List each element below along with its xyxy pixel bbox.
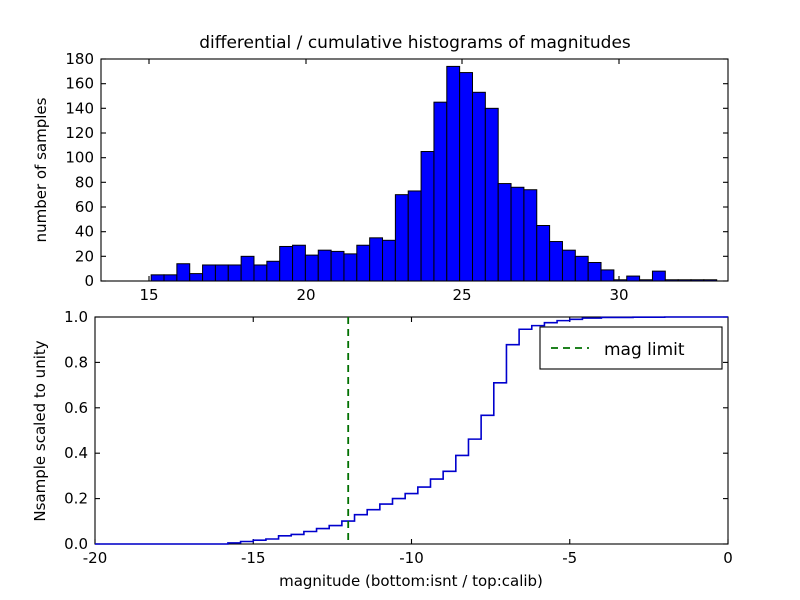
histogram-bar [640, 280, 653, 281]
histogram-bar [434, 102, 447, 281]
histogram-bar [344, 254, 357, 281]
histogram-bar [473, 92, 486, 281]
histogram-bar [627, 276, 640, 281]
histogram-bar [601, 270, 614, 281]
histogram-bar [691, 280, 704, 281]
histogram-bar [331, 251, 344, 281]
histogram-bar [151, 275, 164, 281]
histogram-bar [408, 191, 421, 281]
bottom-ytick-label-0.8: 0.8 [64, 353, 88, 371]
bottom-ytick-label-0.6: 0.6 [64, 399, 88, 417]
matplotlib-figure: differential / cumulative histograms of … [0, 0, 800, 600]
top-ytick-label-100: 100 [65, 149, 94, 167]
legend[interactable]: mag limit [540, 327, 722, 369]
bottom-xtick-label-minus5: -5 [562, 549, 577, 567]
top-ytick-label-120: 120 [65, 124, 94, 142]
legend-label-mag-limit: mag limit [604, 340, 685, 360]
histogram-bar [524, 190, 537, 281]
histogram-bar [254, 265, 267, 281]
histogram-bar [395, 195, 408, 281]
histogram-bar [550, 242, 563, 281]
histogram-bar [318, 250, 331, 281]
histogram-bar [614, 280, 627, 281]
top-ytick-label-180: 180 [65, 50, 94, 68]
histogram-bar [460, 73, 473, 281]
histogram-bar [228, 265, 241, 281]
histogram-bar [575, 256, 588, 281]
histogram-bar [267, 261, 280, 281]
top-xtick-label-25: 25 [452, 286, 471, 304]
histogram-bars [151, 66, 717, 281]
histogram-bar [190, 274, 203, 281]
bottom-ytick-label-0.2: 0.2 [64, 490, 88, 508]
histogram-bar [357, 245, 370, 281]
bottom-axes-ylabel: Nsample scaled to unity [31, 340, 49, 521]
top-xtick-label-20: 20 [296, 286, 315, 304]
histogram-bar [215, 265, 228, 281]
histogram-bar [588, 263, 601, 282]
top-ytick-label-40: 40 [75, 223, 94, 241]
top-axes-ylabel: number of samples [32, 97, 50, 242]
histogram-bar [652, 271, 665, 281]
histogram-bar [678, 280, 691, 281]
figure-canvas: differential / cumulative histograms of … [0, 0, 800, 600]
histogram-bar [305, 255, 318, 281]
histogram-bar [421, 152, 434, 282]
histogram-bar [177, 264, 190, 281]
histogram-bar [665, 280, 678, 281]
histogram-bar [498, 184, 511, 281]
top-ytick-label-140: 140 [65, 99, 94, 117]
histogram-bar [562, 250, 575, 281]
histogram-bar [280, 246, 293, 281]
histogram-bar [511, 187, 524, 281]
bottom-ytick-label-0.4: 0.4 [64, 444, 88, 462]
figure-xlabel: magnitude (bottom:isnt / top:calib) [279, 572, 543, 590]
histogram-bar [383, 240, 396, 281]
top-ytick-label-80: 80 [75, 173, 94, 191]
histogram-bar [203, 265, 216, 281]
bottom-xtick-label-minus15: -15 [241, 549, 266, 567]
figure-title: differential / cumulative histograms of … [199, 33, 631, 53]
histogram-bar [447, 66, 460, 281]
top-xtick-label-15: 15 [139, 286, 158, 304]
histogram-bar [293, 245, 306, 281]
top-ytick-label-20: 20 [75, 247, 94, 265]
bottom-ytick-label-1.0: 1.0 [64, 308, 88, 326]
top-ytick-label-160: 160 [65, 75, 94, 93]
histogram-bar [537, 226, 550, 282]
histogram-bar [241, 256, 254, 281]
histogram-bar [704, 280, 717, 281]
histogram-bar [370, 238, 383, 281]
bottom-xtick-label-minus10: -10 [399, 549, 424, 567]
histogram-bar [485, 108, 498, 281]
top-xtick-label-30: 30 [609, 286, 628, 304]
bottom-xtick-label-minus20: -20 [83, 549, 108, 567]
top-axes-differential-histogram: 0 20 40 60 80 100 120 140 160 180 15 [32, 50, 728, 304]
bottom-xtick-label-0: 0 [723, 549, 733, 567]
top-ytick-label-60: 60 [75, 198, 94, 216]
bottom-axes-cumulative-histogram: 0.0 0.2 0.4 0.6 0.8 1.0 -20 -15 -10 -5 [31, 308, 733, 590]
histogram-bar [164, 275, 177, 281]
top-ytick-label-0: 0 [84, 272, 94, 290]
